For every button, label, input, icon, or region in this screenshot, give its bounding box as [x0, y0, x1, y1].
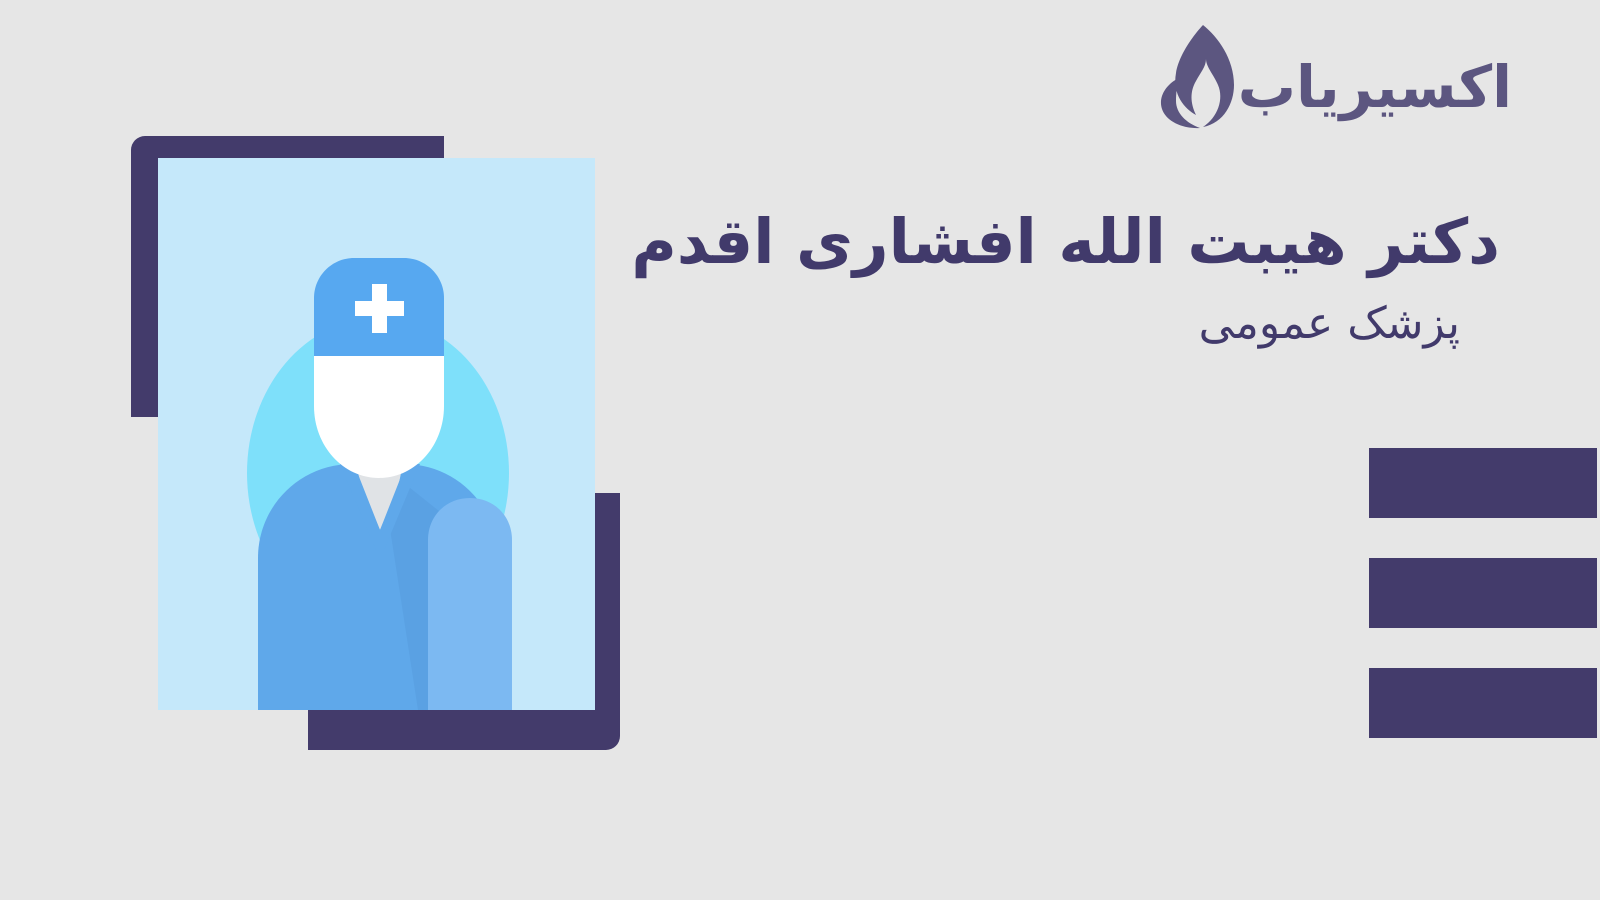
decor-bar-group [1369, 448, 1600, 739]
banner-root: اکسیریاب دکتر هیبت الله افشاری اقدم پزشک… [0, 0, 1600, 900]
doctor-photo-card [158, 158, 595, 710]
decor-bar [1369, 558, 1597, 628]
decor-bar [1369, 448, 1597, 518]
doctor-photo-card-group [131, 136, 623, 752]
decor-bar [1369, 668, 1597, 738]
flame-icon [1156, 23, 1234, 131]
page-title: دکتر هیبت الله افشاری اقدم [600, 205, 1500, 278]
doctor-avatar-illustration [158, 158, 595, 710]
doctor-specialty-label: پزشک عمومی [600, 296, 1460, 351]
brand-wordmark: اکسیریاب [1238, 58, 1512, 116]
headline-block: دکتر هیبت الله افشاری اقدم پزشک عمومی [600, 205, 1500, 351]
brand-logo[interactable]: اکسیریاب [1156, 22, 1512, 132]
